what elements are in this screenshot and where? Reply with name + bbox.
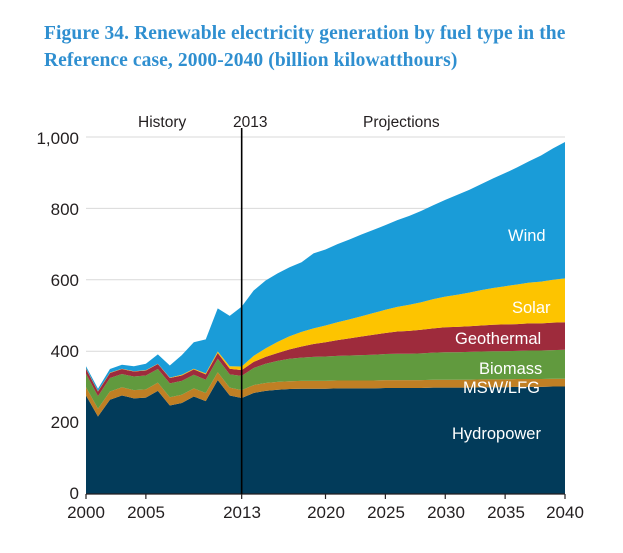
series-label-msw-lfg: MSW/LFG: [463, 379, 540, 398]
series-label-biomass: Biomass: [479, 360, 542, 379]
figure-page: Figure 34. Renewable electricity generat…: [0, 0, 623, 553]
axis-ticks: [86, 494, 565, 499]
series-label-wind: Wind: [508, 227, 546, 246]
series-label-solar: Solar: [512, 299, 551, 318]
series-label-geothermal: Geothermal: [455, 330, 541, 349]
series-label-hydropower: Hydropower: [452, 425, 541, 444]
stacked-area-chart: [0, 0, 623, 553]
